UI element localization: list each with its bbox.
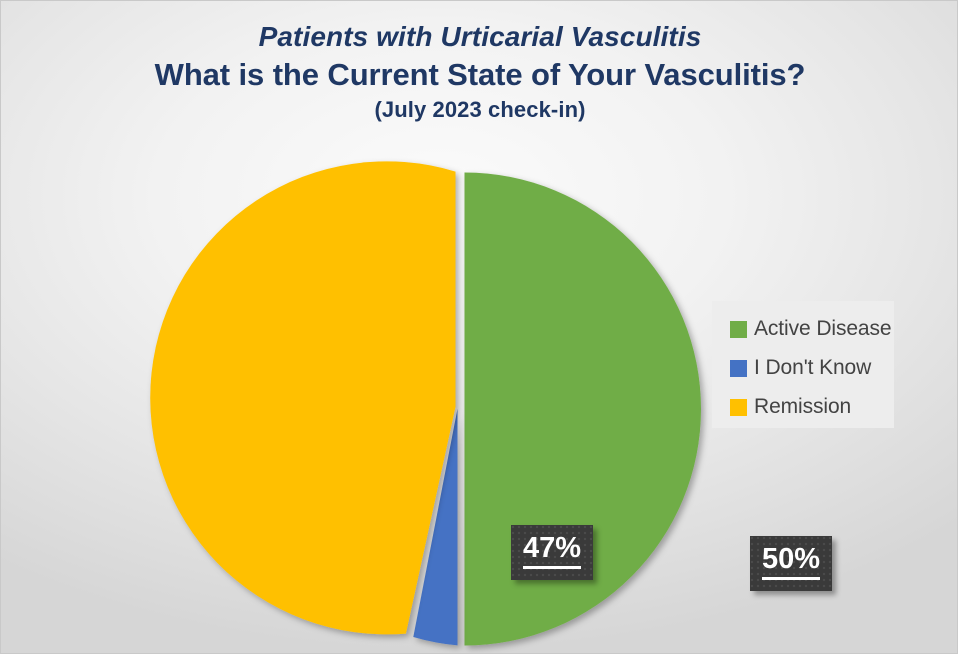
legend-item-i-dont-know[interactable]: I Don't Know (730, 350, 894, 386)
chart-canvas: Patients with Urticarial Vasculitis What… (0, 0, 958, 654)
pie-svg (219, 167, 703, 651)
legend-swatch-icon-active-disease (730, 321, 747, 338)
plot-area: 50% 47% 3% (1, 151, 711, 654)
pie-slice-remission[interactable] (150, 161, 455, 634)
chart-title-block: Patients with Urticarial Vasculitis What… (1, 21, 958, 123)
legend-label-remission: Remission (754, 395, 851, 419)
data-label-value-remission: 47% (523, 534, 581, 569)
legend-swatch-icon-i-dont-know (730, 360, 747, 377)
legend-swatch-icon-remission (730, 399, 747, 416)
data-label-remission: 47% (511, 525, 593, 580)
data-label-active-disease: 50% (750, 536, 832, 591)
legend-label-active-disease: Active Disease (754, 317, 892, 341)
legend-item-remission[interactable]: Remission (730, 389, 894, 425)
chart-legend: Active Disease I Don't Know Remission (712, 301, 894, 428)
chart-title: What is the Current State of Your Vascul… (1, 58, 958, 93)
page-title: Patients with Urticarial Vasculitis (1, 21, 958, 52)
data-label-value-active-disease: 50% (762, 545, 820, 580)
legend-item-active-disease[interactable]: Active Disease (730, 311, 894, 347)
legend-label-i-dont-know: I Don't Know (754, 356, 871, 380)
pie-chart: 50% 47% 3% (219, 167, 703, 651)
chart-subtitle: (July 2023 check-in) (1, 98, 958, 123)
